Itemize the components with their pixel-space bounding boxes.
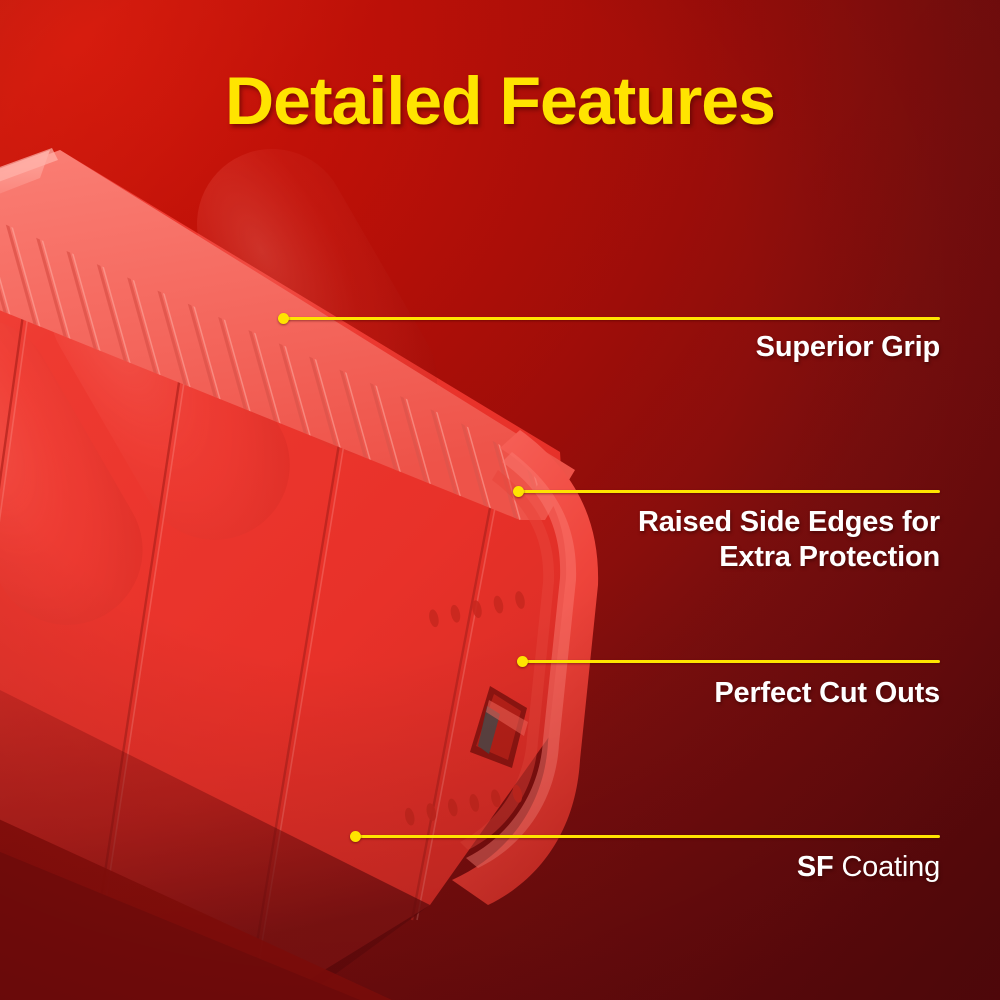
callout-anchor-dot (517, 656, 528, 667)
callout-leader-line (355, 835, 940, 838)
page-title: Detailed Features (0, 62, 1000, 140)
callout-label-raised-side-edges: Raised Side Edges for Extra Protection (638, 505, 940, 574)
callout-anchor-dot (513, 486, 524, 497)
sf-coating-suffix: Coating (841, 851, 940, 883)
callout-leader-line (518, 490, 940, 493)
callout-label-perfect-cut-outs: Perfect Cut Outs (714, 676, 940, 711)
callout-leader-line (522, 660, 940, 663)
callout-anchor-dot (278, 313, 289, 324)
callout-leader-line (283, 317, 940, 320)
callout-label-superior-grip: Superior Grip (756, 330, 940, 365)
product-feature-infographic: Detailed Features Superior Grip Raised S… (0, 0, 1000, 1000)
callout-anchor-dot (350, 831, 361, 842)
callout-label-sf-coating: SF Coating (797, 850, 940, 885)
sf-coating-prefix: SF (797, 851, 834, 883)
